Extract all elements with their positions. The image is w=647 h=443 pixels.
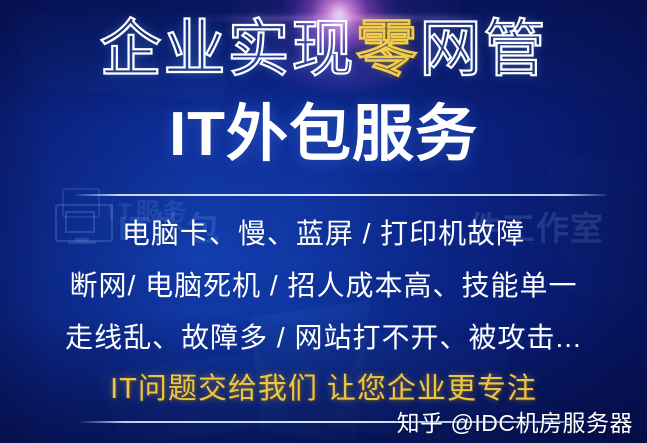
headline-primary-prefix: 企业实现 <box>99 15 355 84</box>
divider-top <box>76 194 606 196</box>
pain-point-item: 电脑卡、慢、蓝屏 / 打印机故障 <box>0 208 647 260</box>
headline-secondary: IT外包服务 <box>0 98 647 172</box>
pain-point-item: 走线乱、故障多 / 网站打不开、被攻击... <box>0 312 647 364</box>
zhihu-credit-watermark: 知乎 @IDC机房服务器 <box>397 408 633 438</box>
headline-primary-suffix: 网管 <box>420 15 548 84</box>
pain-point-list: 电脑卡、慢、蓝屏 / 打印机故障 断网/ 电脑死机 / 招人成本高、技能单一 走… <box>0 208 647 364</box>
poster-content: 企业实现零网管 IT外包服务 电脑卡、慢、蓝屏 / 打印机故障 断网/ 电脑死机… <box>0 0 647 443</box>
poster-canvas: IT服务 IT外包 件工作室 企业实现零网管 IT外包服务 电脑卡、慢、蓝屏 /… <box>0 0 647 443</box>
tagline: IT问题交给我们 让您企业更专注 <box>0 370 647 408</box>
headline-primary-highlight: 零 <box>355 15 419 84</box>
pain-point-item: 断网/ 电脑死机 / 招人成本高、技能单一 <box>0 260 647 312</box>
headline-primary: 企业实现零网管 <box>0 14 647 86</box>
